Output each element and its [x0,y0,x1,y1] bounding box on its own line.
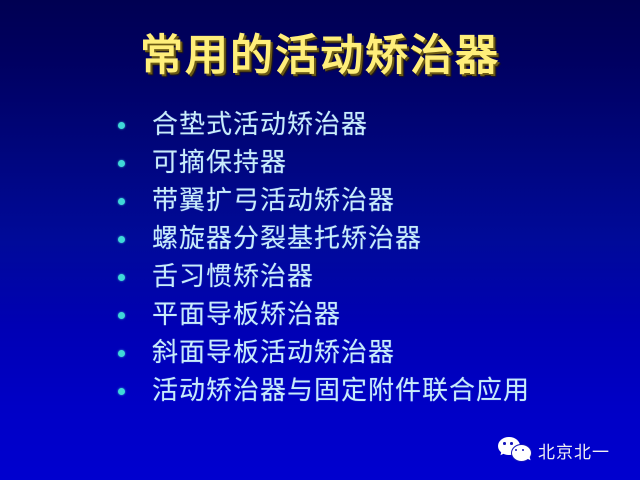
wechat-icon [498,436,532,464]
list-item: 螺旋器分裂基托矫治器 [118,220,618,258]
list-item: 可摘保持器 [118,144,618,182]
list-item: 合垫式活动矫治器 [118,106,618,144]
presentation-slide: 常用的活动矫治器 合垫式活动矫治器 可摘保持器 带翼扩弓活动矫治器 螺旋器分裂基… [0,0,640,480]
bullet-list: 合垫式活动矫治器 可摘保持器 带翼扩弓活动矫治器 螺旋器分裂基托矫治器 舌习惯矫… [118,106,618,410]
list-item-label: 合垫式活动矫治器 [152,110,368,140]
bullet-dot-icon [118,274,125,281]
list-item-label: 平面导板矫治器 [152,300,341,330]
list-item-label: 带翼扩弓活动矫治器 [152,186,395,216]
list-item: 舌习惯矫治器 [118,258,618,296]
list-item-label: 斜面导板活动矫治器 [152,338,395,368]
bullet-dot-icon [118,122,125,129]
list-item-label: 舌习惯矫治器 [152,262,314,292]
list-item-label: 可摘保持器 [152,148,287,178]
bullet-dot-icon [118,312,125,319]
bullet-dot-icon [118,350,125,357]
watermark: 北京北一 [498,434,610,466]
bullet-dot-icon [118,160,125,167]
list-item-label: 螺旋器分裂基托矫治器 [152,224,422,254]
bullet-dot-icon [118,236,125,243]
list-item: 平面导板矫治器 [118,296,618,334]
bullet-dot-icon [118,198,125,205]
watermark-label: 北京北一 [538,438,610,463]
list-item-label: 活动矫治器与固定附件联合应用 [152,376,530,406]
slide-title: 常用的活动矫治器 [0,30,640,82]
list-item: 斜面导板活动矫治器 [118,334,618,372]
list-item: 活动矫治器与固定附件联合应用 [118,372,618,410]
list-item: 带翼扩弓活动矫治器 [118,182,618,220]
bullet-dot-icon [118,388,125,395]
